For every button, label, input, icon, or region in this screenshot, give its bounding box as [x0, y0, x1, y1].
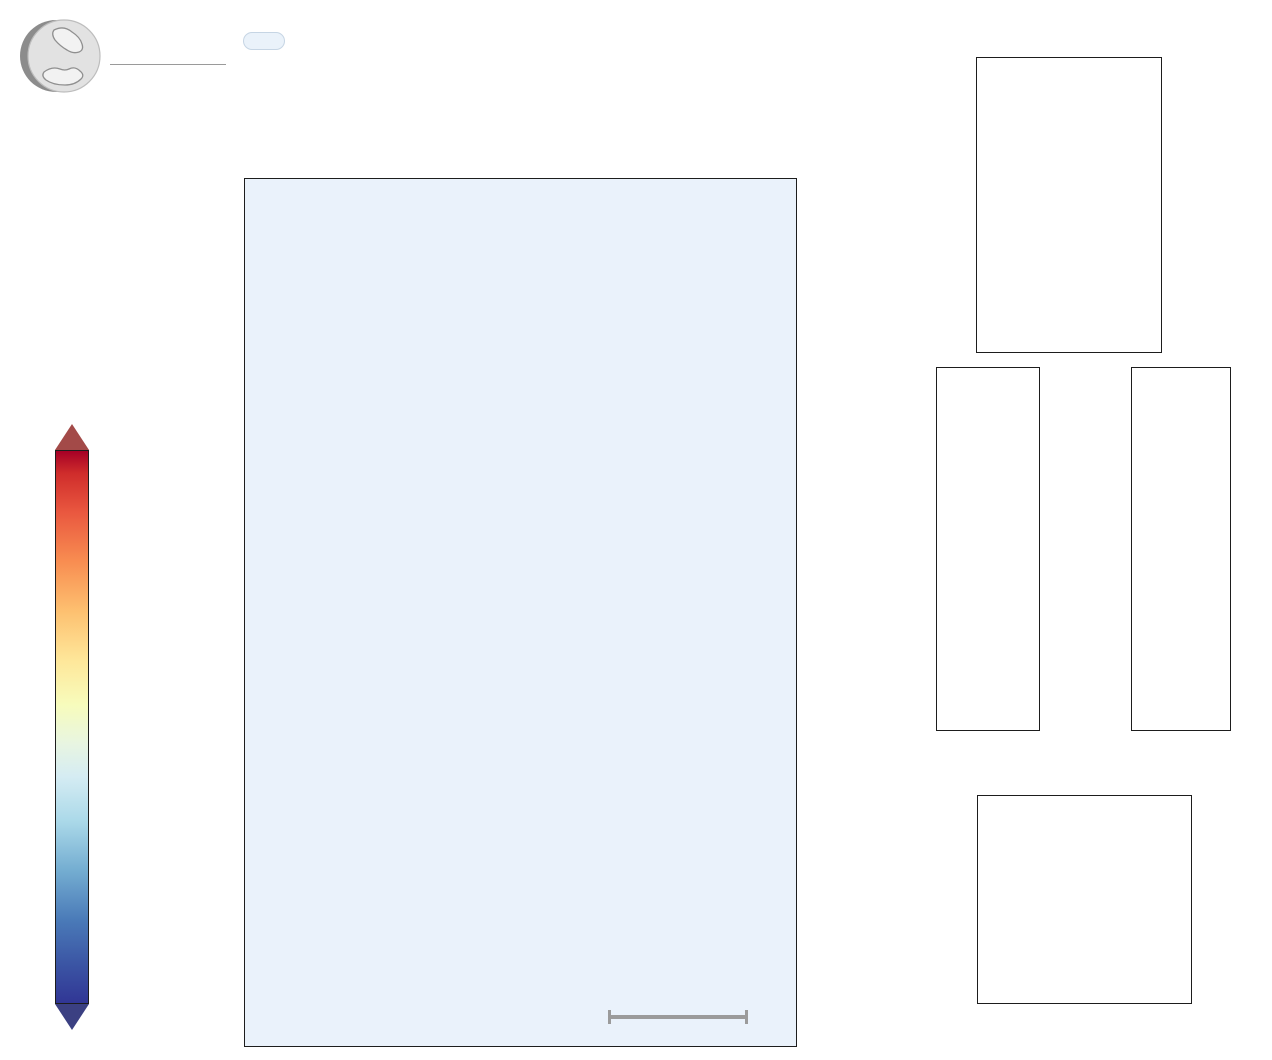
- colorbar-under-arrow: [55, 1004, 89, 1030]
- plot-range-canvas: [937, 368, 1039, 730]
- elevation-colorbar[interactable]: [55, 424, 89, 1030]
- variable-badge[interactable]: [243, 32, 285, 50]
- colorbar-gradient: [55, 450, 89, 1004]
- scalebar-line: [608, 1015, 748, 1019]
- brand-logo-block: [14, 8, 234, 108]
- full-range-histogram[interactable]: [1131, 367, 1231, 731]
- map-canvas: [245, 179, 796, 1045]
- missing-values-map[interactable]: [976, 57, 1162, 353]
- scatter-canvas: [978, 796, 1191, 1003]
- globe-ice-sheets-icon: [14, 10, 106, 102]
- scalebar-end-right: [745, 1010, 748, 1024]
- plot-range-histogram[interactable]: [936, 367, 1040, 731]
- colorbar-over-arrow: [55, 424, 89, 450]
- missing-values-canvas: [977, 58, 1161, 352]
- brand-divider: [110, 64, 226, 65]
- scalebar-end-left: [608, 1010, 611, 1024]
- elevation-latitude-scatter[interactable]: [977, 795, 1192, 1004]
- greenland-map[interactable]: [244, 178, 797, 1047]
- full-range-canvas: [1132, 368, 1230, 730]
